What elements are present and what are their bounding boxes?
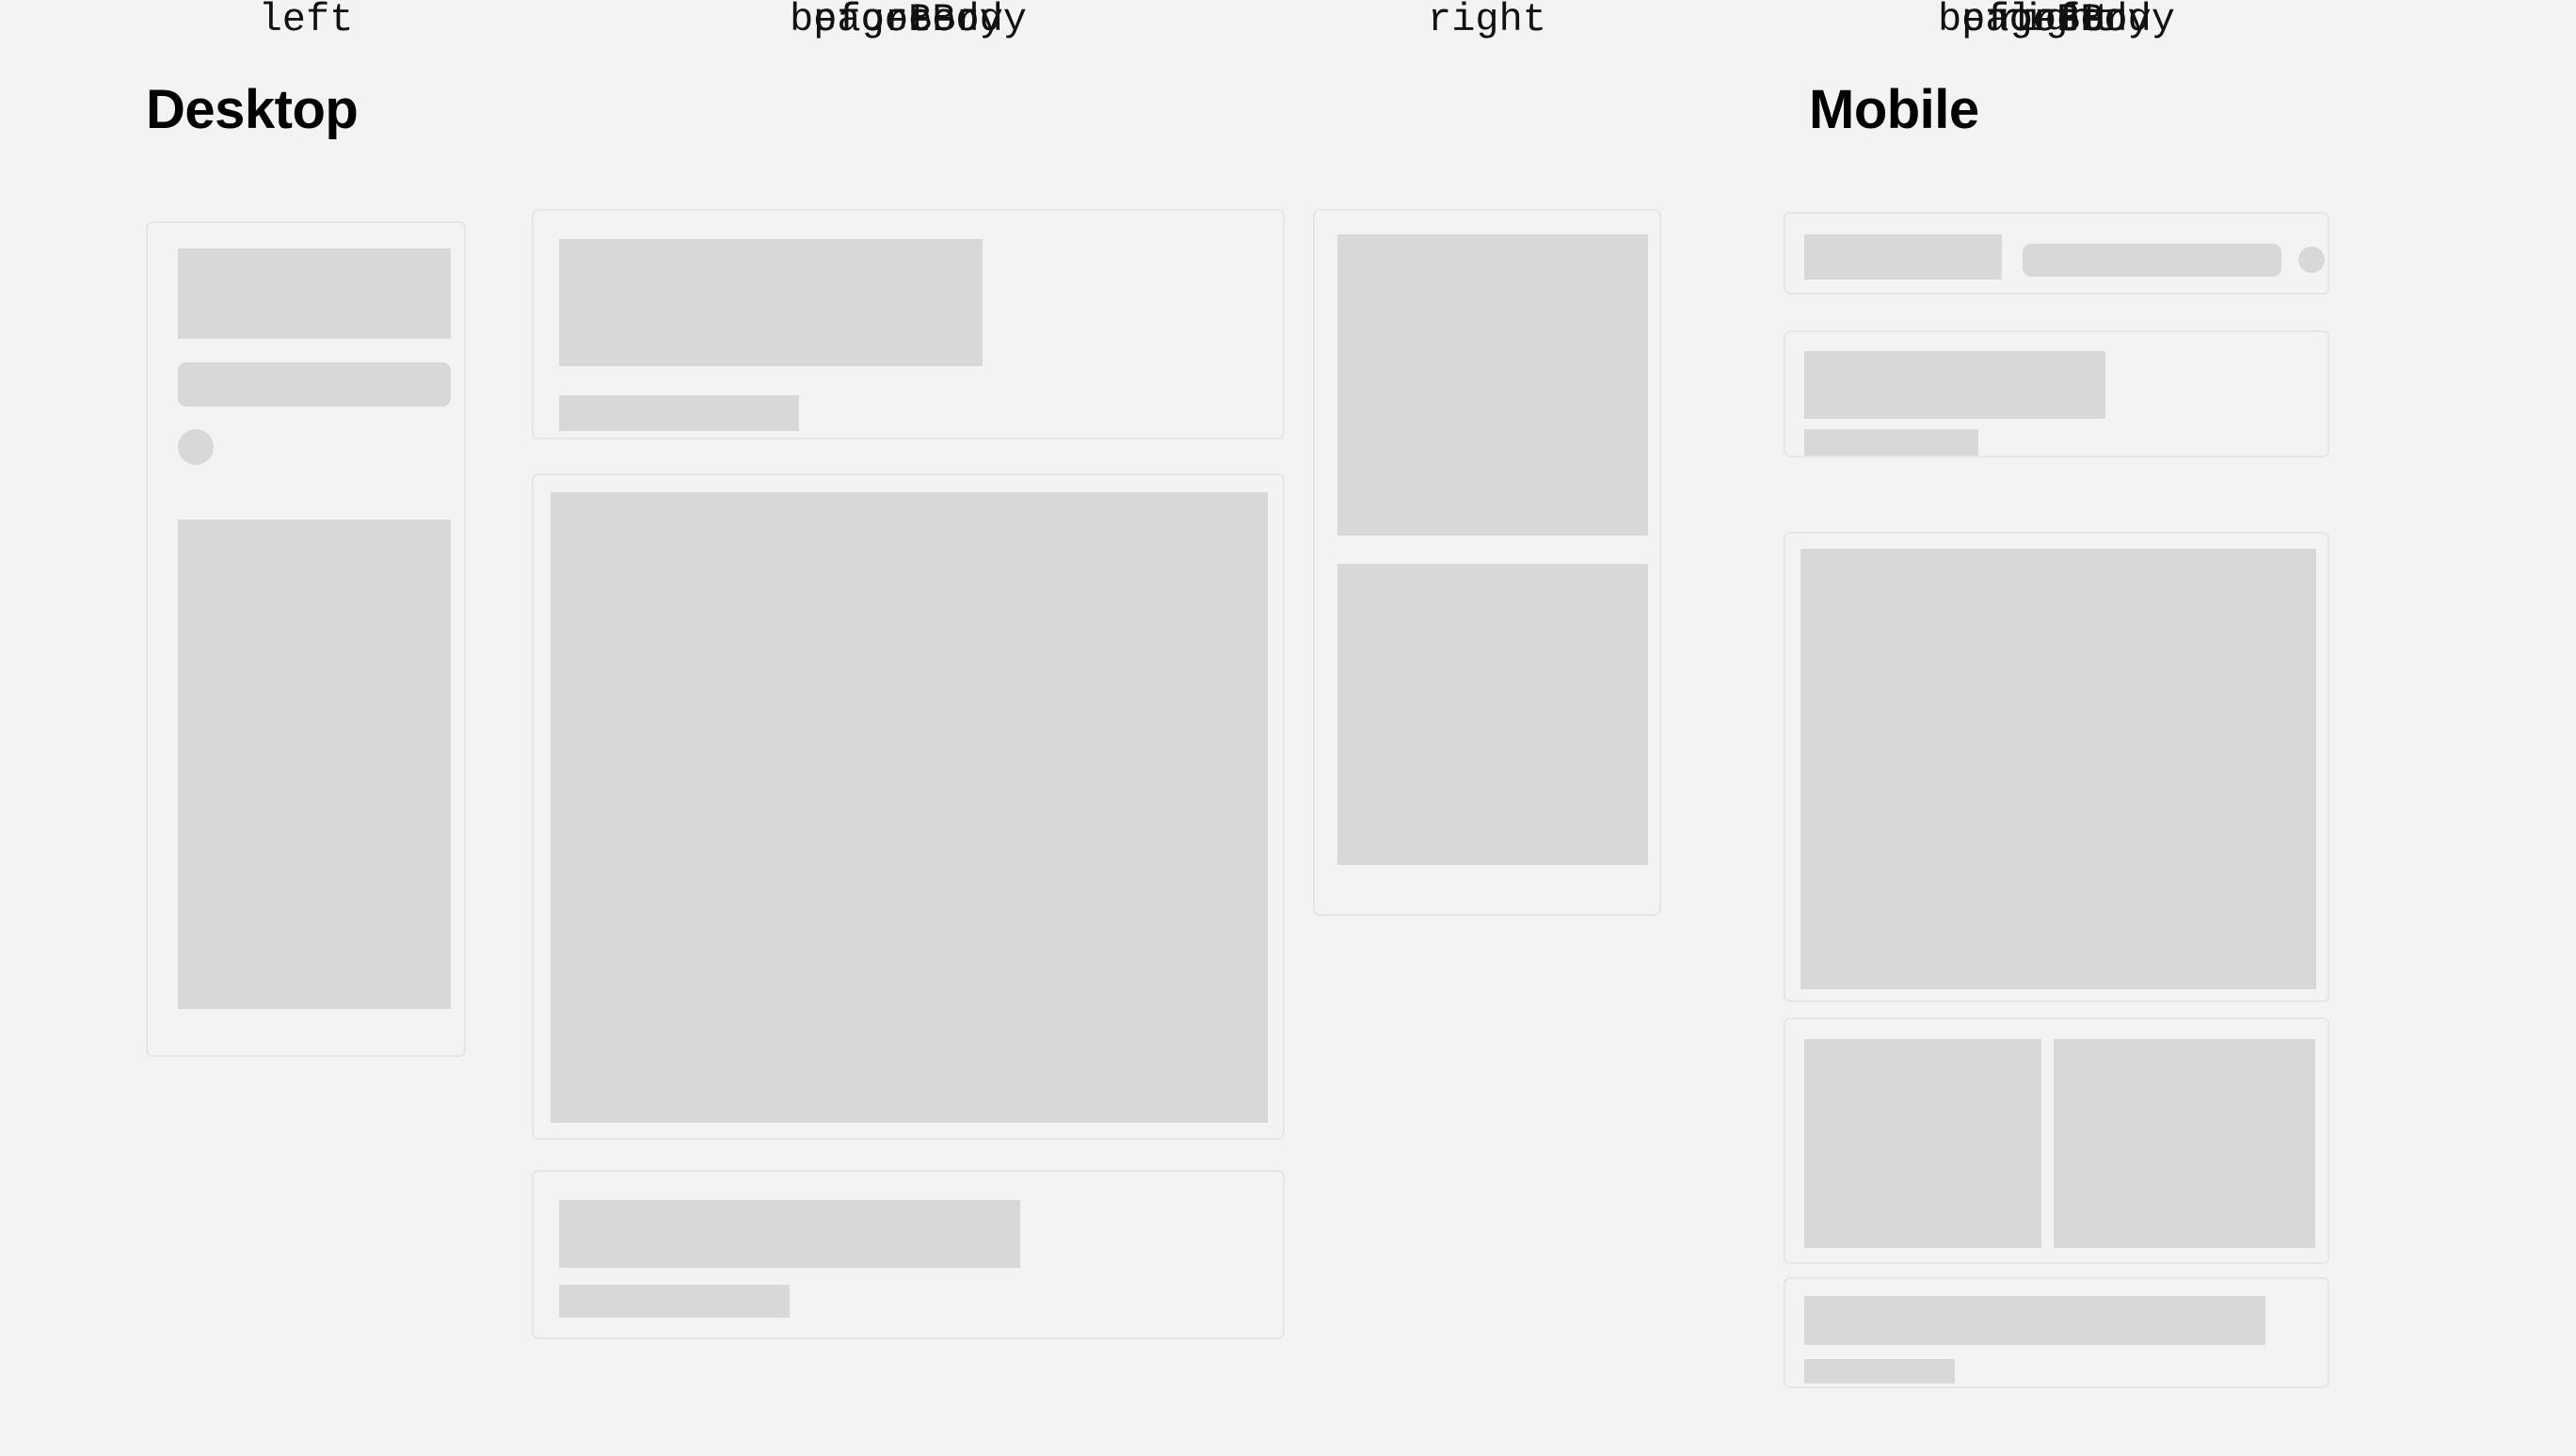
placeholder-block (1804, 1359, 1955, 1384)
placeholder-block (559, 395, 799, 431)
desktop-panel-footer[interactable] (532, 1170, 1285, 1339)
desktop-panel-beforebody[interactable] (532, 209, 1285, 440)
mobile-panel-pagebody[interactable] (1784, 532, 2329, 1002)
desktop-panel-left[interactable] (146, 221, 466, 1057)
placeholder-block (559, 239, 983, 366)
placeholder-block (559, 1200, 1020, 1268)
placeholder-circle (2298, 247, 2325, 273)
placeholder-block (559, 1285, 790, 1318)
placeholder-block (551, 492, 1268, 1123)
layout-preview-stage: Desktop left beforeBody pageBody right f… (0, 0, 2576, 1456)
placeholder-block (1337, 234, 1648, 536)
mobile-slot-label-beforebody: beforeBody (1784, 0, 2329, 40)
placeholder-block (1804, 429, 1978, 456)
placeholder-block (1804, 1039, 2041, 1248)
desktop-panel-pagebody[interactable] (532, 473, 1285, 1140)
desktop-section-heading: Desktop (146, 83, 358, 137)
desktop-slot-label-beforebody: beforeBody (532, 0, 1285, 40)
placeholder-circle (178, 429, 214, 465)
mobile-panel-right[interactable] (1784, 1017, 2329, 1264)
placeholder-pill (2023, 244, 2281, 277)
placeholder-block (1804, 234, 2002, 280)
desktop-panel-right[interactable] (1313, 209, 1661, 916)
mobile-panel-footer[interactable] (1784, 1277, 2329, 1388)
desktop-slot-label-pagebody: pageBody (532, 0, 1285, 40)
desktop-slot-label-footer: footer (532, 0, 1285, 40)
mobile-panel-beforebody[interactable] (1784, 330, 2329, 457)
desktop-slot-label-left: left (146, 0, 466, 40)
placeholder-block (2054, 1039, 2315, 1248)
placeholder-pill (178, 362, 451, 407)
placeholder-block (178, 248, 451, 339)
placeholder-block (1804, 1296, 2265, 1345)
mobile-slot-label-footer: footer (1784, 0, 2329, 40)
mobile-slot-label-left: left (1784, 0, 2329, 40)
placeholder-block (1337, 564, 1648, 865)
mobile-slot-label-pagebody: pageBody (1784, 0, 2329, 40)
mobile-panel-left[interactable] (1784, 212, 2329, 295)
desktop-slot-label-right: right (1313, 0, 1661, 40)
mobile-section-heading: Mobile (1809, 83, 1979, 137)
mobile-slot-label-right: right (1784, 0, 2329, 40)
placeholder-block (1800, 549, 2316, 989)
placeholder-block (178, 520, 451, 1009)
placeholder-block (1804, 351, 2105, 419)
